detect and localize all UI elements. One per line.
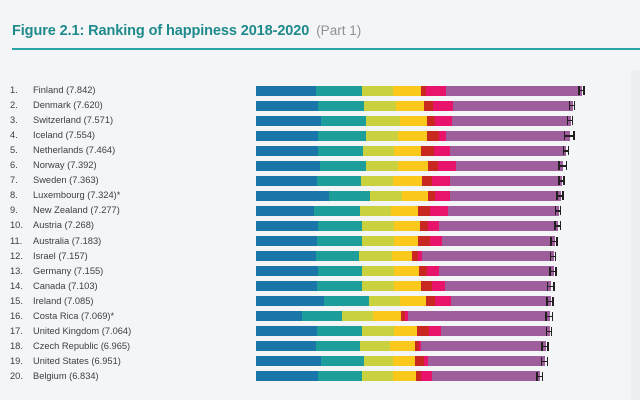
bar-segment-social-support — [321, 356, 364, 366]
stacked-bar — [256, 131, 569, 141]
chart-row: 1.Finland (7.842) — [0, 83, 640, 98]
chart-row: 12.Israel (7.157) — [0, 249, 640, 264]
stacked-bar — [256, 221, 558, 231]
bar-segment-social-support — [318, 371, 363, 381]
bar-segment-dystopia-residual — [453, 101, 573, 111]
bar-segment-dystopia-residual — [446, 131, 570, 141]
bar-segment-life-expectancy — [362, 86, 393, 96]
confidence-interval-marker — [546, 327, 552, 336]
bar-segment-freedom — [394, 281, 422, 291]
bar-segment-dystopia-residual — [432, 371, 541, 381]
bar-segment-freedom — [402, 191, 429, 201]
country-label: Ireland (7.085) — [33, 294, 93, 309]
chart-row: 8.Luxembourg (7.324)* — [0, 188, 640, 203]
errorbar-cap-right — [555, 267, 556, 276]
errorbar-cap-right — [551, 327, 552, 336]
bar-segment-dystopia-residual — [451, 296, 551, 306]
confidence-interval-marker — [550, 237, 557, 246]
confidence-interval-marker — [555, 206, 561, 215]
happiness-ranking-chart: 1.Finland (7.842)2.Denmark (7.620)3.Swit… — [0, 70, 640, 400]
chart-row: 13.Germany (7.155) — [0, 264, 640, 279]
bar-segment-corruption — [427, 266, 440, 276]
bar-segment-gdp — [256, 236, 318, 246]
chart-row: 5.Netherlands (7.464) — [0, 143, 640, 158]
bar-segment-corruption — [432, 281, 445, 291]
country-label: Denmark (7.620) — [33, 98, 103, 113]
bar-segment-generosity — [421, 281, 432, 291]
bar-segment-dystopia-residual — [445, 281, 552, 291]
bar-segment-dystopia-residual — [452, 116, 570, 126]
bar-segment-life-expectancy — [360, 206, 392, 216]
country-label: Norway (7.392) — [33, 158, 97, 173]
bar-segment-generosity — [421, 146, 434, 156]
bar-segment-gdp — [256, 146, 319, 156]
confidence-interval-marker — [564, 131, 575, 140]
country-label: Finland (7.842) — [33, 83, 96, 98]
errorbar-cap-right — [556, 237, 557, 246]
bar-segment-life-expectancy — [362, 221, 395, 231]
confidence-interval-marker — [558, 161, 567, 170]
bar-segment-dystopia-residual — [448, 206, 558, 216]
bar-segment-life-expectancy — [366, 131, 399, 141]
bar-segment-generosity — [417, 326, 429, 336]
confidence-interval-marker — [541, 342, 549, 351]
bar-segment-gdp — [256, 281, 318, 291]
bar-segment-social-support — [324, 296, 370, 306]
bar-segment-life-expectancy — [360, 341, 391, 351]
chart-row: 16.Costa Rica (7.069)* — [0, 309, 640, 324]
bar-segment-life-expectancy — [342, 311, 373, 321]
confidence-interval-marker — [578, 86, 584, 95]
bar-segment-generosity — [427, 131, 440, 141]
bar-segment-gdp — [256, 341, 317, 351]
errorbar-cap-right — [560, 206, 561, 215]
stacked-bar — [256, 326, 549, 336]
bar-segment-gdp — [256, 371, 318, 381]
chart-row: 9.New Zealand (7.277) — [0, 203, 640, 218]
bar-segment-gdp — [256, 311, 302, 321]
bar-segment-social-support — [320, 161, 367, 171]
country-label: Czech Republic (6.965) — [33, 339, 130, 354]
stacked-bar — [256, 251, 553, 261]
bar-segment-freedom — [398, 131, 428, 141]
bar-segment-social-support — [318, 146, 363, 156]
page-right-margin — [631, 70, 640, 400]
bar-segment-freedom — [393, 371, 417, 381]
bar-segment-social-support — [316, 341, 361, 351]
country-label: Germany (7.155) — [33, 264, 103, 279]
bar-segment-social-support — [317, 176, 362, 186]
country-label: United Kingdom (7.064) — [33, 324, 131, 339]
bar-segment-gdp — [256, 296, 324, 306]
confidence-interval-marker — [536, 372, 543, 381]
bar-segment-freedom — [394, 326, 418, 336]
bar-segment-corruption — [433, 101, 454, 111]
bar-segment-corruption — [432, 176, 451, 186]
bar-segment-gdp — [256, 176, 318, 186]
bar-segment-gdp — [256, 221, 319, 231]
errorbar-cap-right — [552, 312, 553, 321]
country-label: Costa Rica (7.069)* — [33, 309, 114, 324]
title-divider — [12, 48, 640, 50]
confidence-interval-marker — [554, 221, 561, 230]
chart-row: 14.Canada (7.103) — [0, 279, 640, 294]
bar-segment-freedom — [400, 116, 428, 126]
chart-row: 11.Australia (7.183) — [0, 234, 640, 249]
bar-segment-dystopia-residual — [422, 251, 554, 261]
stacked-bar — [256, 116, 570, 126]
stacked-bar — [256, 266, 553, 276]
country-label: Israel (7.157) — [33, 249, 88, 264]
stacked-bar — [256, 191, 560, 201]
bar-segment-dystopia-residual — [439, 266, 553, 276]
figure-title-part: (Part 1) — [316, 23, 361, 38]
chart-row: 18.Czech Republic (6.965) — [0, 339, 640, 354]
chart-row: 20.Belgium (6.834) — [0, 369, 640, 384]
bar-segment-corruption — [438, 161, 456, 171]
bar-segment-social-support — [316, 86, 362, 96]
bar-segment-corruption — [429, 326, 441, 336]
bar-segment-corruption — [435, 116, 453, 126]
errorbar-cap-right — [572, 116, 573, 125]
bar-segment-freedom — [394, 221, 420, 231]
errorbar-cap-right — [568, 146, 569, 155]
stacked-bar — [256, 296, 550, 306]
bar-segment-gdp — [256, 86, 317, 96]
bar-segment-life-expectancy — [366, 116, 400, 126]
bar-segment-freedom — [394, 146, 421, 156]
country-label: United States (6.951) — [33, 354, 121, 369]
confidence-interval-marker — [547, 282, 555, 291]
bar-segment-life-expectancy — [366, 161, 399, 171]
bar-segment-gdp — [256, 206, 315, 216]
bar-segment-dystopia-residual — [450, 176, 562, 186]
bar-segment-gdp — [256, 356, 321, 366]
errorbar-cap-right — [583, 86, 584, 95]
bar-segment-dystopia-residual — [408, 311, 550, 321]
bar-segment-social-support — [318, 266, 362, 276]
country-label: Netherlands (7.464) — [33, 143, 115, 158]
bar-segment-gdp — [256, 161, 321, 171]
bar-segment-life-expectancy — [362, 326, 394, 336]
chart-row: 15.Ireland (7.085) — [0, 294, 640, 309]
bar-segment-social-support — [302, 311, 342, 321]
bar-segment-life-expectancy — [369, 296, 401, 306]
stacked-bar — [256, 101, 572, 111]
page-title: Figure 2.1: Ranking of happiness 2018-20… — [12, 22, 361, 40]
stacked-bar — [256, 86, 581, 96]
bar-segment-freedom — [398, 161, 428, 171]
bar-segment-freedom — [373, 311, 402, 321]
bar-segment-gdp — [256, 266, 319, 276]
bar-segment-social-support — [317, 281, 362, 291]
bar-segment-dystopia-residual — [446, 86, 582, 96]
bar-segment-generosity — [422, 176, 433, 186]
bar-segment-life-expectancy — [362, 281, 395, 291]
bar-segment-social-support — [318, 101, 365, 111]
bar-segment-life-expectancy — [362, 266, 394, 276]
bar-segment-generosity — [418, 206, 430, 216]
errorbar-cap-right — [547, 342, 548, 351]
confidence-interval-marker — [546, 297, 553, 306]
bar-segment-life-expectancy — [361, 176, 393, 186]
bar-segment-corruption — [435, 191, 450, 201]
bar-segment-dystopia-residual — [450, 146, 567, 156]
errorbar-cap-right — [542, 372, 543, 381]
stacked-bar — [256, 281, 551, 291]
errorbar-cap-right — [555, 252, 556, 261]
confidence-interval-marker — [556, 191, 563, 200]
bar-segment-freedom — [396, 101, 425, 111]
bar-segment-life-expectancy — [359, 251, 393, 261]
bar-segment-social-support — [314, 206, 360, 216]
stacked-bar — [256, 371, 540, 381]
stacked-bar — [256, 341, 545, 351]
bar-segment-gdp — [256, 326, 317, 336]
errorbar-cap-right — [566, 161, 567, 170]
figure-header: Figure 2.1: Ranking of happiness 2018-20… — [0, 0, 640, 70]
confidence-interval-marker — [563, 146, 569, 155]
confidence-interval-marker — [541, 357, 548, 366]
errorbar-cap-right — [560, 221, 561, 230]
bar-segment-freedom — [394, 266, 420, 276]
bar-segment-life-expectancy — [364, 356, 394, 366]
bar-segment-corruption — [430, 206, 449, 216]
bar-segment-generosity — [418, 236, 430, 246]
chart-row: 2.Denmark (7.620) — [0, 98, 640, 113]
errorbar-cap-right — [552, 297, 553, 306]
bar-segment-social-support — [316, 251, 359, 261]
stacked-bar — [256, 176, 562, 186]
bar-segment-dystopia-residual — [439, 221, 558, 231]
country-label: Austria (7.268) — [33, 218, 94, 233]
bar-segment-dystopia-residual — [450, 191, 561, 201]
bar-segment-corruption — [435, 296, 451, 306]
country-label: Australia (7.183) — [33, 234, 101, 249]
confidence-interval-marker — [550, 252, 557, 261]
bar-segment-life-expectancy — [364, 101, 396, 111]
confidence-interval-marker — [549, 267, 556, 276]
bar-segment-life-expectancy — [363, 146, 395, 156]
bar-segment-dystopia-residual — [456, 161, 564, 171]
bar-segment-gdp — [256, 131, 318, 141]
confidence-interval-marker — [558, 176, 565, 185]
stacked-bar — [256, 161, 563, 171]
bar-segment-social-support — [317, 326, 363, 336]
chart-row: 4.Iceland (7.554) — [0, 128, 640, 143]
bar-segment-freedom — [393, 176, 422, 186]
country-label: Iceland (7.554) — [33, 128, 95, 143]
bar-segment-corruption — [430, 236, 443, 246]
stacked-bar — [256, 146, 566, 156]
confidence-interval-marker — [545, 312, 553, 321]
confidence-interval-marker — [567, 116, 574, 125]
bar-segment-social-support — [318, 131, 367, 141]
country-label: Sweden (7.363) — [33, 173, 99, 188]
chart-row: 17.United Kingdom (7.064) — [0, 324, 640, 339]
bar-segment-gdp — [256, 251, 317, 261]
country-label: Luxembourg (7.324)* — [33, 188, 120, 203]
bar-segment-social-support — [321, 116, 366, 126]
chart-row: 10.Austria (7.268) — [0, 218, 640, 233]
country-label: Belgium (6.834) — [33, 369, 99, 384]
stacked-bar — [256, 206, 558, 216]
bar-segment-freedom — [393, 86, 422, 96]
errorbar-cap-right — [547, 357, 548, 366]
errorbar-cap-right — [553, 282, 554, 291]
bar-segment-dystopia-residual — [441, 326, 550, 336]
bar-segment-freedom — [392, 251, 412, 261]
chart-row: 6.Norway (7.392) — [0, 158, 640, 173]
bar-segment-social-support — [329, 191, 371, 201]
figure-title-main: Figure 2.1: Ranking of happiness 2018-20… — [12, 23, 309, 39]
country-label: New Zealand (7.277) — [33, 203, 120, 218]
bar-segment-corruption — [434, 146, 451, 156]
bar-segment-freedom — [394, 236, 420, 246]
errorbar-cap-right — [574, 101, 575, 110]
errorbar-cap-right — [573, 131, 574, 140]
chart-row: 7.Sweden (7.363) — [0, 173, 640, 188]
bar-segment-generosity — [428, 161, 439, 171]
bar-segment-dystopia-residual — [442, 236, 554, 246]
bar-segment-life-expectancy — [362, 371, 394, 381]
bar-segment-freedom — [400, 296, 427, 306]
errorbar-cap-right — [563, 176, 564, 185]
stacked-bar — [256, 311, 549, 321]
bar-segment-gdp — [256, 116, 322, 126]
bar-segment-life-expectancy — [370, 191, 402, 201]
bar-segment-life-expectancy — [362, 236, 394, 246]
bar-segment-social-support — [317, 236, 362, 246]
bar-segment-gdp — [256, 101, 319, 111]
chart-row: 19.United States (6.951) — [0, 354, 640, 369]
stacked-bar — [256, 236, 554, 246]
country-label: Switzerland (7.571) — [33, 113, 113, 128]
chart-row: 3.Switzerland (7.571) — [0, 113, 640, 128]
bar-segment-corruption — [428, 221, 439, 231]
bar-segment-corruption — [421, 371, 432, 381]
bar-segment-gdp — [256, 191, 329, 201]
bar-segment-freedom — [393, 356, 416, 366]
bar-segment-social-support — [318, 221, 363, 231]
bar-segment-corruption — [426, 86, 447, 96]
errorbar-cap-right — [562, 191, 563, 200]
bar-segment-dystopia-residual — [428, 356, 545, 366]
country-label: Canada (7.103) — [33, 279, 98, 294]
confidence-interval-marker — [569, 101, 575, 110]
bar-segment-freedom — [390, 341, 416, 351]
stacked-bar — [256, 356, 544, 366]
bar-segment-dystopia-residual — [421, 341, 545, 351]
bar-segment-freedom — [391, 206, 419, 216]
